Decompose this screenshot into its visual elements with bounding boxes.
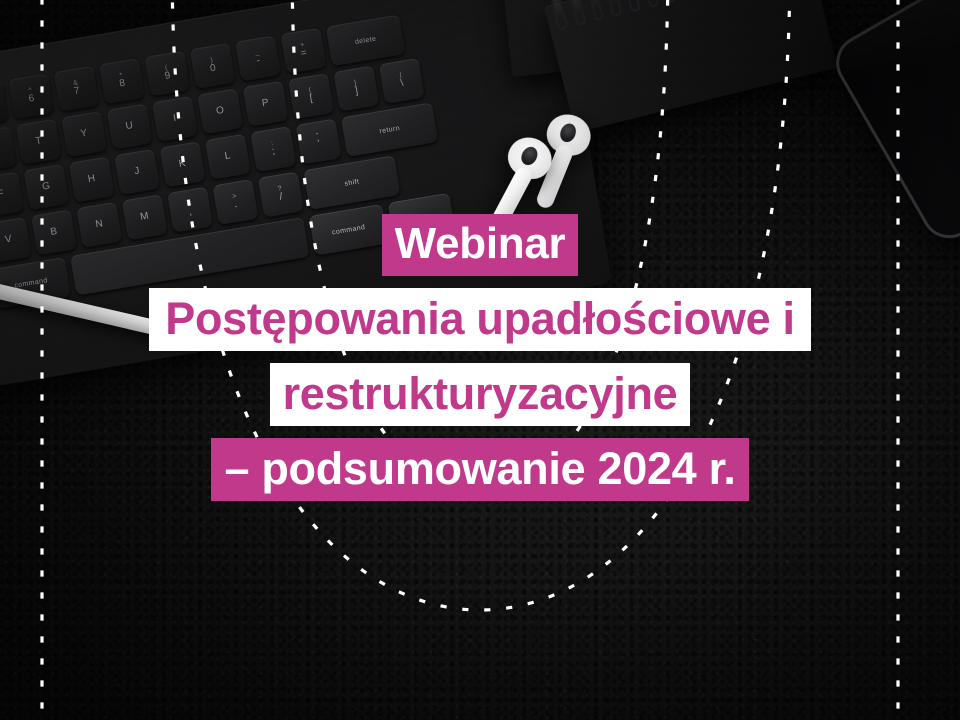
title-line-4: – podsumowanie 2024 r. [0, 438, 960, 501]
title-line-3-text: restrukturyzacyjne [270, 363, 691, 426]
title-line-2: Postępowania upadłościowe i [0, 288, 960, 351]
title-line-3: restrukturyzacyjne [0, 363, 960, 426]
slide-canvas: @2#3$4%5^6&7*8(9)0_-+=deleteQWERTYUIOP{[… [0, 0, 960, 720]
slide-title-block: Webinar Postępowania upadłościowe i rest… [0, 214, 960, 501]
title-line-2-text: Postępowania upadłościowe i [149, 288, 811, 351]
title-line-1-text: Webinar [382, 214, 579, 276]
title-line-4-text: – podsumowanie 2024 r. [211, 438, 748, 501]
title-line-1: Webinar [0, 214, 960, 276]
